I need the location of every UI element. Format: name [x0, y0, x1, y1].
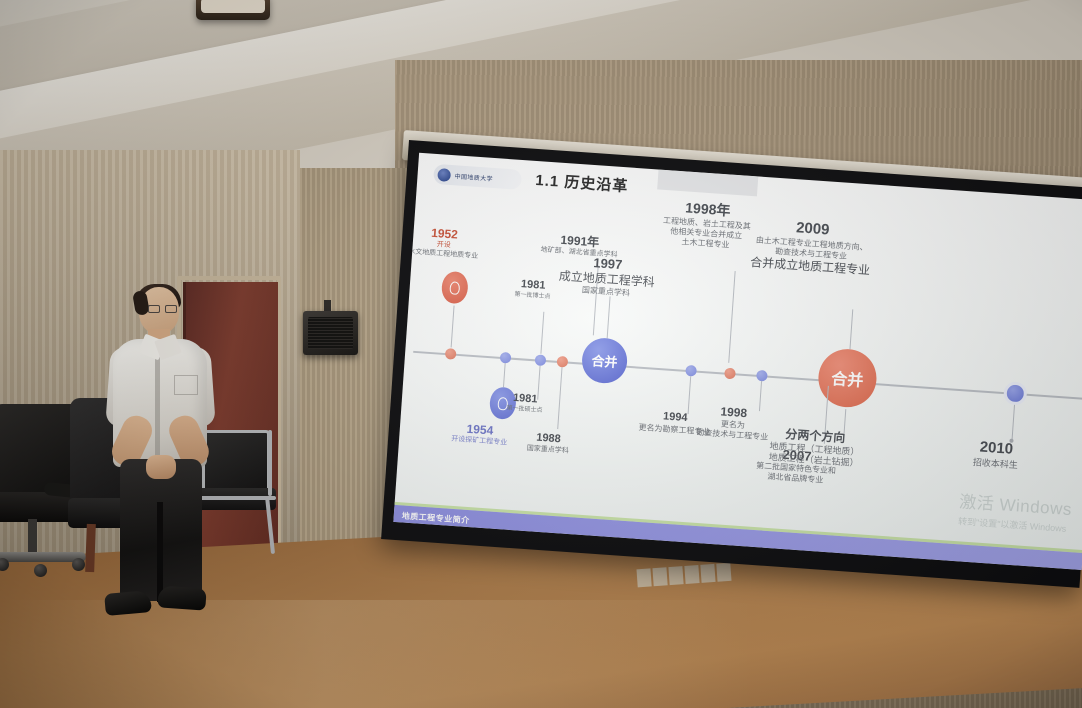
event-two-directions: 分两个方向 地质工程（工程地质） 地质工程（岩土钻掘）	[768, 426, 860, 470]
timeline-node-1998a	[724, 368, 736, 380]
presenter-right-shoe	[157, 585, 206, 610]
stem-1988	[557, 367, 563, 429]
timeline-node-1998b	[756, 370, 768, 382]
logo-emblem-icon	[437, 168, 451, 182]
slide-title: 1.1 历史沿革	[535, 169, 629, 196]
bulb-glyph	[449, 281, 460, 295]
stem-1994	[688, 376, 692, 414]
chair-leg	[85, 524, 96, 572]
chair-caster	[34, 564, 47, 577]
glasses-icon	[148, 305, 179, 313]
standing-presenter	[100, 287, 220, 632]
event-1954: 1954 开设探矿工程专业	[451, 421, 509, 449]
event-1981-doctoral: 1981 第一批博士点	[514, 278, 551, 302]
chair-frame	[268, 430, 272, 496]
presenter-clasped-hands	[146, 455, 176, 479]
stem-1954	[503, 363, 506, 387]
presentation-slide: 中国地质大学 1.1 历史沿革 合并 合并	[393, 153, 1082, 570]
event-1997: 1997 成立地质工程学科 国家重点学科	[558, 253, 657, 301]
ceiling-light-icon	[196, 0, 270, 20]
wall-speaker-icon	[303, 311, 358, 355]
projection-screen: 中国地质大学 1.1 历史沿革 合并 合并	[381, 140, 1082, 588]
shirt-pocket	[174, 375, 198, 395]
timeline-node-2010	[1003, 381, 1028, 406]
timeline-node-1994	[685, 365, 697, 377]
timeline-node-1954	[500, 352, 512, 364]
event-1998-rename: 1998 更名为 勘查技术与工程专业	[696, 403, 770, 443]
university-logo: 中国地质大学	[433, 164, 522, 190]
windows-activation-watermark: 激活 Windows 转到"设置"以激活 Windows	[958, 487, 1073, 535]
event-1998-civil: 1998年 工程地质、岩土工程及其 他相关专业合并成立 土木工程专业	[661, 198, 752, 252]
stem-1981-doctoral	[540, 312, 544, 354]
stem-2010	[1011, 405, 1015, 441]
merge-node-1997: 合并	[581, 337, 629, 385]
chair-caster	[72, 558, 85, 571]
merge-node-2009: 合并	[817, 347, 879, 409]
speaker-grill	[308, 317, 353, 349]
lightbulb-icon-red	[441, 271, 469, 305]
event-2009: 2009 由土木工程专业工程地质方向、 勘查技术与工程专业 合并成立地质工程专业	[750, 216, 873, 278]
timeline-node-1981b	[557, 356, 569, 368]
logo-text: 中国地质大学	[454, 171, 493, 183]
stem-two-directions	[844, 409, 847, 433]
event-1988: 1988 国家重点学科	[526, 431, 569, 456]
event-1952: 1952 开设 水文地质工程地质专业	[408, 224, 480, 261]
stem-1952	[451, 306, 455, 348]
trouser-leg-gap	[157, 502, 163, 602]
event-1981-master: 1981 第一批硕士点	[506, 391, 543, 415]
stem-1997	[607, 296, 611, 338]
screenshot-root: 中国地质大学 1.1 历史沿革 合并 合并	[0, 0, 1082, 708]
stem-1998-civil	[728, 271, 736, 363]
timeline-node-1952	[445, 348, 457, 360]
shirt-placket	[155, 343, 160, 463]
stem-2009	[849, 309, 853, 349]
presenter-left-shoe	[104, 590, 152, 616]
event-2010: 2010 招收本科生	[972, 438, 1019, 471]
slide-footer-text: 地质工程专业简介	[401, 511, 469, 525]
chair-back	[0, 404, 80, 496]
timeline-node-1981a	[535, 354, 547, 366]
